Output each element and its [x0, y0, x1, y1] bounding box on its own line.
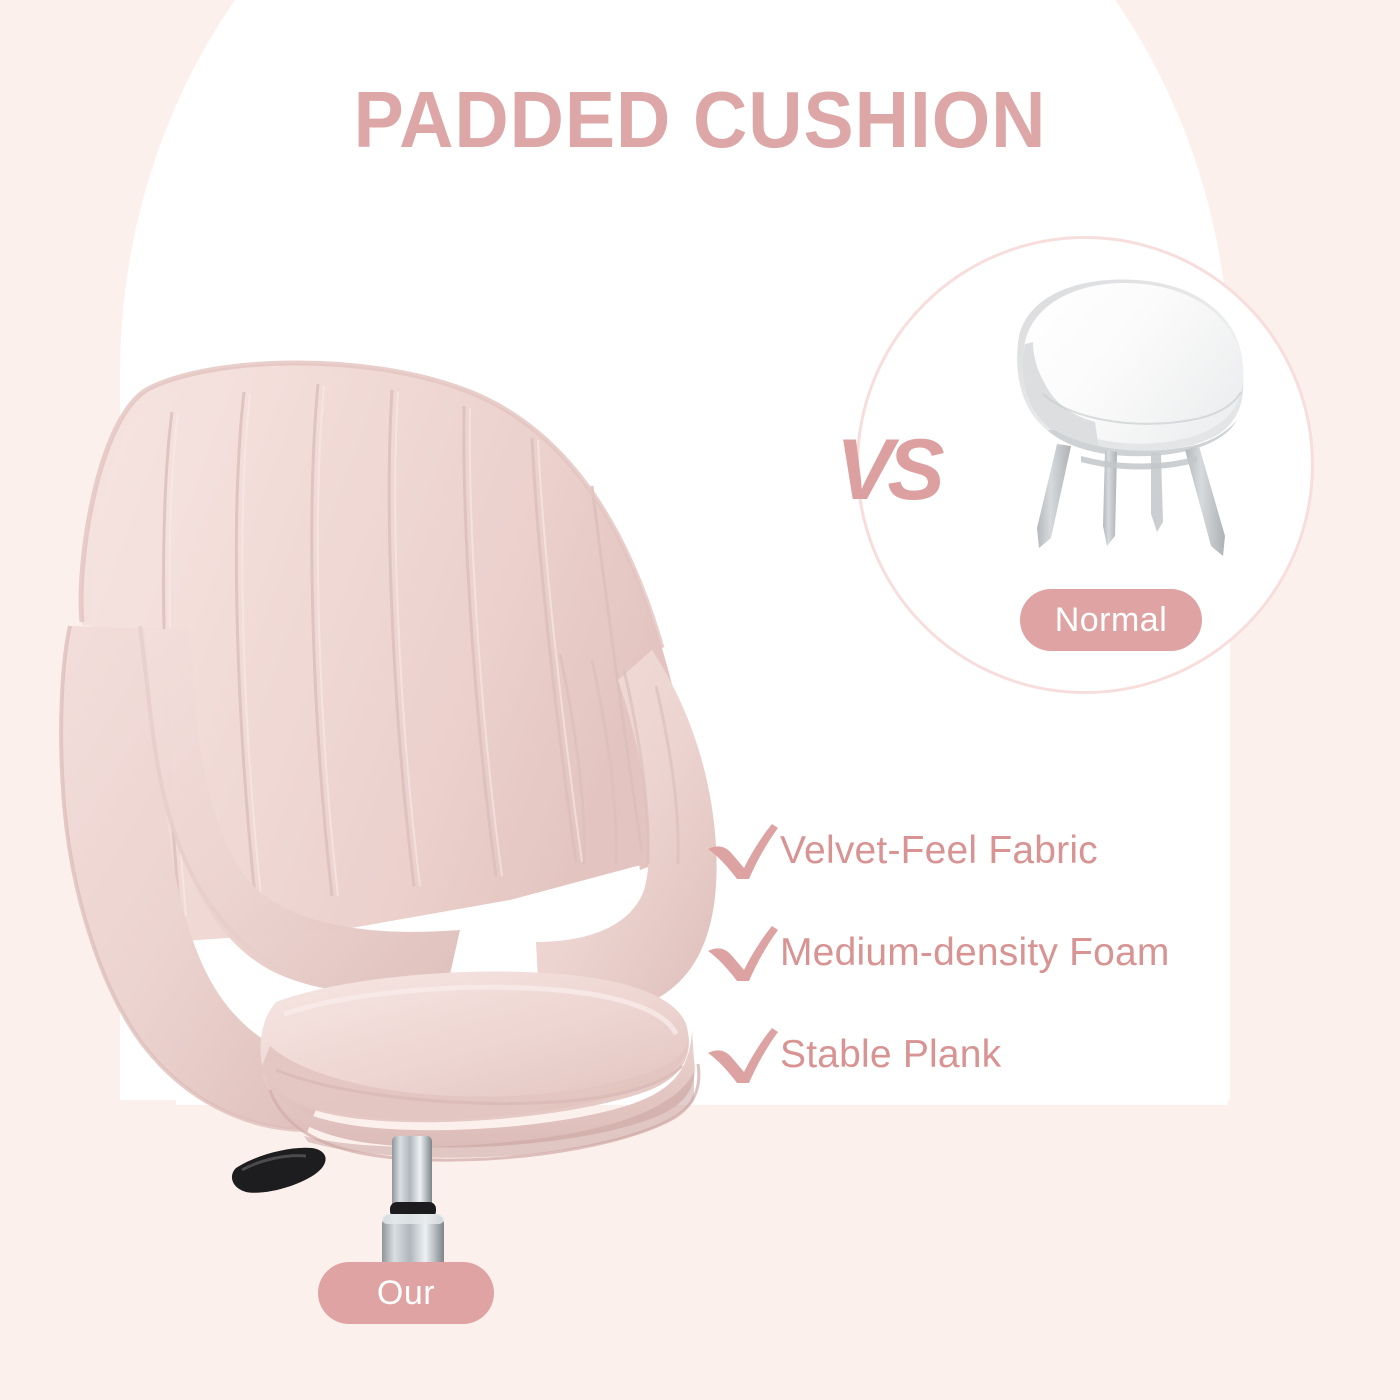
our-chair-image	[40, 330, 760, 1290]
list-item: Velvet-Feel Fabric	[706, 800, 1326, 902]
feature-list: Velvet-Feel Fabric Medium-density Foam S…	[706, 800, 1326, 1106]
check-icon	[706, 1026, 780, 1084]
list-item: Stable Plank	[706, 1004, 1326, 1106]
versus-label: VS	[836, 415, 976, 525]
feature-label: Medium-density Foam	[780, 931, 1170, 975]
marketing-banner: PADDED CUSHION	[0, 0, 1400, 1400]
feature-label: Stable Plank	[780, 1033, 1001, 1077]
feature-label: Velvet-Feel Fabric	[780, 829, 1098, 873]
competitor-chair-image	[985, 270, 1275, 620]
competitor-badge: Normal	[1020, 589, 1202, 651]
check-icon	[706, 822, 780, 880]
our-badge: Our	[318, 1262, 494, 1324]
list-item: Medium-density Foam	[706, 902, 1326, 1004]
page-title: PADDED CUSHION	[42, 74, 1358, 166]
check-icon	[706, 924, 780, 982]
